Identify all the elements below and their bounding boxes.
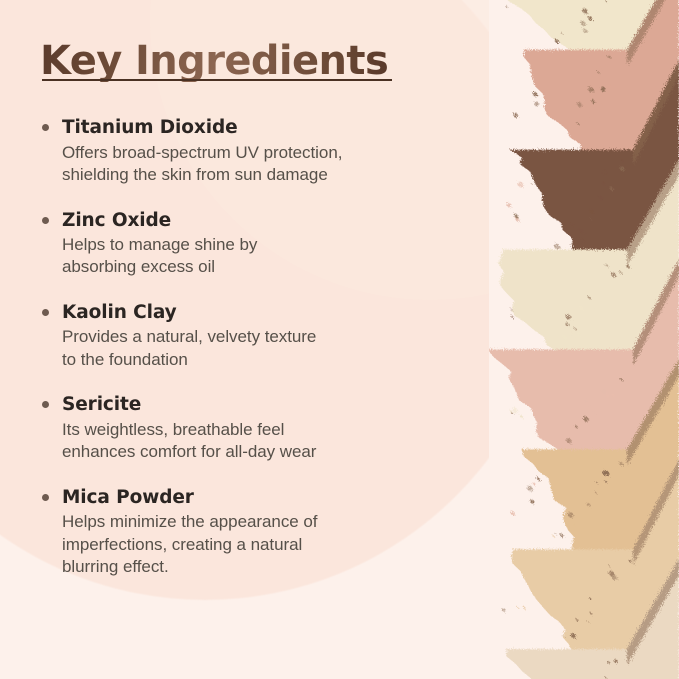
- list-item: Sericite Its weightless, breathable feel…: [40, 393, 440, 463]
- ingredient-name: Mica Powder: [62, 486, 440, 509]
- ingredient-name: Kaolin Clay: [62, 301, 440, 324]
- ingredient-name: Sericite: [62, 393, 440, 416]
- ingredient-description: Provides a natural, velvety texture to t…: [62, 326, 440, 371]
- ingredient-description: Helps to manage shine by absorbing exces…: [62, 234, 440, 279]
- list-item: Kaolin Clay Provides a natural, velvety …: [40, 301, 440, 371]
- bullet-icon: [42, 124, 49, 131]
- page-title-wrapper: Key Ingredients: [40, 40, 388, 82]
- list-item: Titanium Dioxide Offers broad-spectrum U…: [40, 116, 440, 186]
- bullet-icon: [42, 309, 49, 316]
- ingredient-description: Its weightless, breathable feel enhances…: [62, 419, 440, 464]
- list-item: Zinc Oxide Helps to manage shine by abso…: [40, 209, 440, 279]
- title-underline: [42, 79, 392, 81]
- key-ingredients-graphic: Key Ingredients Titanium Dioxide Offers …: [0, 0, 679, 679]
- ingredient-description: Offers broad-spectrum UV protection, shi…: [62, 142, 440, 187]
- list-item: Mica Powder Helps minimize the appearanc…: [40, 486, 440, 579]
- page-title: Key Ingredients: [40, 40, 388, 82]
- ingredient-name: Titanium Dioxide: [62, 116, 440, 139]
- ingredient-description: Helps minimize the appearance of imperfe…: [62, 511, 440, 579]
- powder-swatch-image: [489, 0, 679, 679]
- ingredient-name: Zinc Oxide: [62, 209, 440, 232]
- bullet-icon: [42, 401, 49, 408]
- content-column: Key Ingredients Titanium Dioxide Offers …: [0, 0, 470, 679]
- bullet-icon: [42, 217, 49, 224]
- bullet-icon: [42, 494, 49, 501]
- ingredient-list: Titanium Dioxide Offers broad-spectrum U…: [40, 116, 440, 578]
